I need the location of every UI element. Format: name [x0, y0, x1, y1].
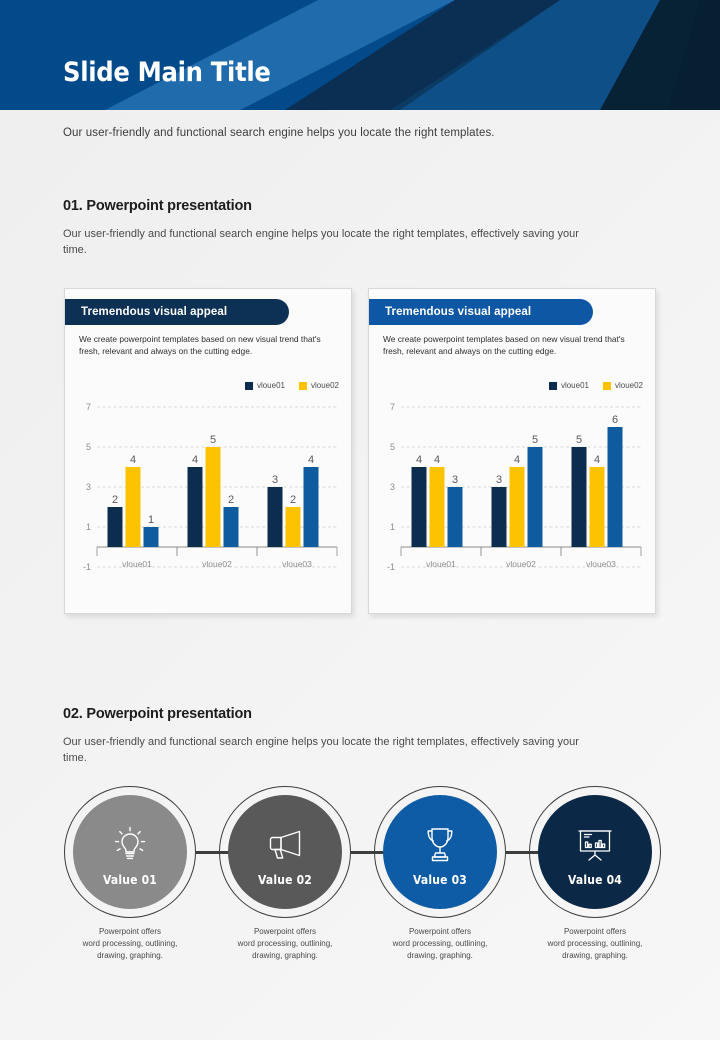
- svg-text:1: 1: [86, 522, 91, 532]
- svg-text:5: 5: [86, 442, 91, 452]
- bar-chart-1: 7531-1241vloue01452vloue02324vloue03: [75, 397, 343, 597]
- svg-text:4: 4: [514, 454, 520, 466]
- presentation-chart-icon: [574, 818, 616, 864]
- node-label: Value 02: [258, 873, 312, 887]
- svg-text:2: 2: [290, 494, 296, 506]
- svg-text:7: 7: [86, 402, 91, 412]
- legend-swatch-series2: [299, 382, 307, 390]
- legend-item-series1: vloue01: [549, 381, 589, 390]
- svg-text:vloue03: vloue03: [282, 559, 312, 569]
- value-node-1[interactable]: Value 01: [64, 786, 196, 918]
- card-2-badge: Tremendous visual appeal: [369, 299, 593, 325]
- chart-card-1[interactable]: Tremendous visual appeal We create power…: [64, 288, 352, 614]
- svg-text:4: 4: [416, 454, 422, 466]
- banner-shapes: [0, 0, 720, 110]
- card-1-body: We create powerpoint templates based on …: [79, 333, 341, 357]
- svg-text:5: 5: [390, 442, 395, 452]
- svg-text:vloue02: vloue02: [202, 559, 232, 569]
- node-label: Value 03: [413, 873, 467, 887]
- svg-text:1: 1: [148, 514, 154, 526]
- section-02-subtext: Our user-friendly and functional search …: [63, 734, 583, 766]
- legend-swatch-series1: [245, 382, 253, 390]
- value-node-3[interactable]: Value 03: [374, 786, 506, 918]
- svg-text:7: 7: [390, 402, 395, 412]
- legend-swatch-series2: [603, 382, 611, 390]
- svg-text:4: 4: [130, 454, 136, 466]
- chart-2-legend: vloue01 vloue02: [549, 381, 643, 390]
- node-disc: Value 02: [228, 795, 342, 909]
- section-02-heading: 02. Powerpoint presentation: [63, 706, 252, 722]
- svg-text:vloue02: vloue02: [506, 559, 536, 569]
- svg-text:4: 4: [192, 454, 198, 466]
- node-label: Value 01: [103, 873, 157, 887]
- chart-1-legend: vloue01 vloue02: [245, 381, 339, 390]
- svg-text:3: 3: [496, 474, 502, 486]
- legend-label-series1: vloue01: [257, 381, 285, 390]
- svg-text:4: 4: [594, 454, 600, 466]
- node-caption-2: Powerpoint offersword processing, outlin…: [195, 926, 375, 962]
- svg-text:3: 3: [452, 474, 458, 486]
- value-node-4[interactable]: Value 04: [529, 786, 661, 918]
- svg-text:3: 3: [390, 482, 395, 492]
- legend-label-series2: vloue02: [311, 381, 339, 390]
- node-disc: Value 04: [538, 795, 652, 909]
- page-title: Slide Main Title: [63, 57, 271, 88]
- svg-text:6: 6: [612, 414, 618, 426]
- svg-text:3: 3: [86, 482, 91, 492]
- node-caption-1: Powerpoint offersword processing, outlin…: [40, 926, 220, 962]
- value-node-2[interactable]: Value 02: [219, 786, 351, 918]
- legend-label-series1: vloue01: [561, 381, 589, 390]
- card-2-body: We create powerpoint templates based on …: [383, 333, 645, 357]
- legend-swatch-series1: [549, 382, 557, 390]
- svg-text:-1: -1: [83, 562, 91, 572]
- svg-text:-1: -1: [387, 562, 395, 572]
- legend-item-series1: vloue01: [245, 381, 285, 390]
- node-label: Value 04: [568, 873, 622, 887]
- svg-text:2: 2: [228, 494, 234, 506]
- svg-text:2: 2: [112, 494, 118, 506]
- svg-text:4: 4: [434, 454, 440, 466]
- node-disc: Value 03: [383, 795, 497, 909]
- header-banner: Slide Main Title: [0, 0, 720, 110]
- svg-text:4: 4: [308, 454, 314, 466]
- node-disc: Value 01: [73, 795, 187, 909]
- bar-chart-2: 7531-1443vloue01345vloue02546vloue03: [379, 397, 647, 597]
- legend-item-series2: vloue02: [603, 381, 643, 390]
- card-1-badge: Tremendous visual appeal: [65, 299, 289, 325]
- intro-text: Our user-friendly and functional search …: [63, 127, 663, 139]
- legend-label-series2: vloue02: [615, 381, 643, 390]
- svg-text:5: 5: [210, 434, 216, 446]
- svg-text:1: 1: [390, 522, 395, 532]
- svg-text:vloue03: vloue03: [586, 559, 616, 569]
- node-caption-3: Powerpoint offersword processing, outlin…: [350, 926, 530, 962]
- svg-text:vloue01: vloue01: [426, 559, 456, 569]
- svg-text:vloue01: vloue01: [122, 559, 152, 569]
- node-caption-4: Powerpoint offersword processing, outlin…: [505, 926, 685, 962]
- svg-text:5: 5: [532, 434, 538, 446]
- section-01-subtext: Our user-friendly and functional search …: [63, 226, 583, 258]
- svg-text:5: 5: [576, 434, 582, 446]
- lightbulb-icon: [110, 818, 150, 864]
- megaphone-icon: [264, 818, 306, 864]
- value-node-row: Value 01 Value 02: [0, 786, 720, 918]
- svg-text:3: 3: [272, 474, 278, 486]
- section-01-heading: 01. Powerpoint presentation: [63, 198, 252, 214]
- legend-item-series2: vloue02: [299, 381, 339, 390]
- trophy-icon: [421, 818, 459, 864]
- chart-card-2[interactable]: Tremendous visual appeal We create power…: [368, 288, 656, 614]
